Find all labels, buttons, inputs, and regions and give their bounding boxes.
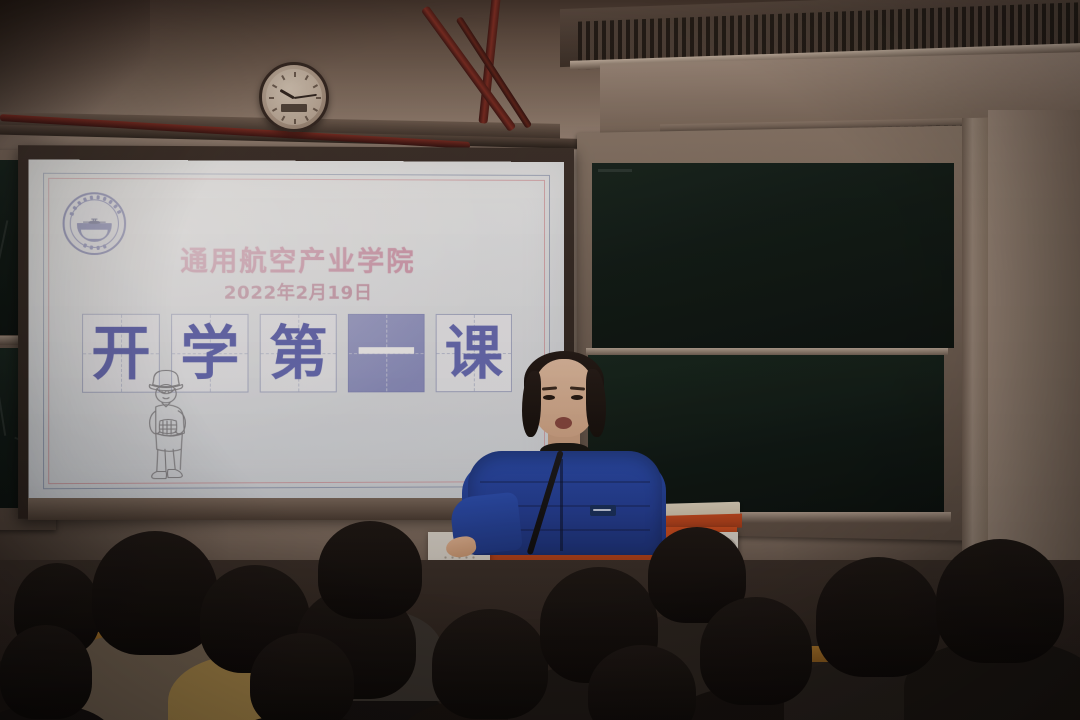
- chalk-mark: [598, 169, 632, 172]
- chalk-mark: [0, 220, 8, 261]
- audience-head-5: [318, 521, 422, 619]
- clock-tick: [313, 108, 318, 112]
- clock-tick: [281, 116, 285, 121]
- wall-column: [962, 118, 988, 560]
- headline-char-box-3: 第: [260, 314, 337, 393]
- presenter-hair-left: [522, 371, 541, 437]
- classroom-photo: 通用航空产业学院 2022年2月19日 开学第一课: [0, 0, 1080, 720]
- jacket-quilt-seam: [480, 481, 650, 483]
- clock-brand-badge: [281, 104, 307, 112]
- clock-tick: [316, 97, 321, 99]
- audience-head-10: [816, 557, 940, 677]
- presenter-eye-right: [571, 395, 583, 400]
- audience-head-12: [250, 633, 354, 720]
- slide-institution-title: 通用航空产业学院: [29, 239, 564, 279]
- audience-seated: [0, 505, 1080, 720]
- headline-char-glyph: 一: [357, 324, 416, 382]
- clock-tick: [294, 72, 296, 77]
- headline-char-box-4: 一: [348, 314, 425, 392]
- presenter-mouth: [555, 417, 572, 429]
- headline-char-glyph: 第: [269, 324, 328, 382]
- presenter-eye-left: [543, 395, 555, 400]
- student-line-drawing: [131, 362, 202, 481]
- emblem-wave: [81, 230, 108, 239]
- clock-tick: [272, 84, 277, 88]
- clock-minute-hand: [294, 94, 317, 99]
- audience-head-11: [936, 539, 1064, 663]
- clock-face: [266, 69, 322, 125]
- slide-date: 2022年2月19日: [29, 278, 564, 305]
- wall-clock: [259, 62, 329, 132]
- clock-tick: [305, 116, 309, 121]
- clock-tick: [269, 97, 274, 99]
- clock-tick: [272, 108, 277, 112]
- chalk-mark: [0, 382, 6, 436]
- clock-tick: [313, 84, 318, 88]
- emblem-center: [77, 208, 112, 243]
- audience-head-9: [700, 597, 812, 705]
- audience-head-14: [0, 625, 92, 719]
- clock-tick: [281, 75, 285, 80]
- aircraft-icon: [82, 218, 107, 225]
- wall-right-panel: [988, 110, 1080, 560]
- audience-head-6: [432, 609, 548, 719]
- clock-tick: [294, 119, 296, 124]
- audience-head-2: [92, 531, 218, 655]
- blackboard-right-upper: [592, 163, 954, 348]
- clock-tick: [305, 75, 309, 80]
- clock-hour-hand: [279, 89, 294, 99]
